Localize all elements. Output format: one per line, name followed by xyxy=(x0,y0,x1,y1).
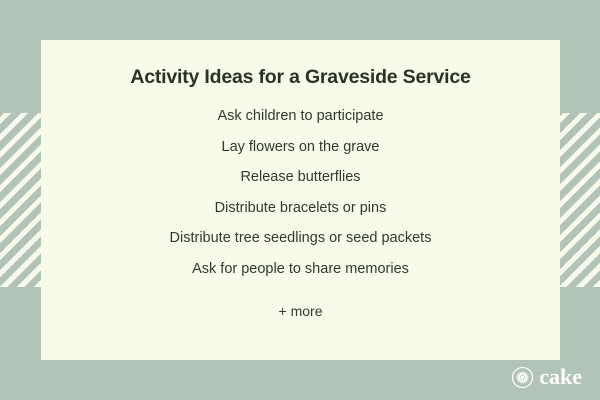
more-label: + more xyxy=(279,303,323,319)
list-item: Ask for people to share memories xyxy=(192,262,409,277)
brand-name: cake xyxy=(539,366,582,388)
infographic-canvas: Activity Ideas for a Graveside Service A… xyxy=(0,0,600,400)
list-item: Release butterflies xyxy=(240,170,360,185)
list-item: Distribute bracelets or pins xyxy=(215,201,387,216)
cake-flower-emblem-icon xyxy=(512,367,533,388)
brand-logo: cake xyxy=(512,366,582,388)
list-item: Distribute tree seedlings or seed packet… xyxy=(170,231,432,246)
list-item: Ask children to participate xyxy=(217,109,383,124)
list-item: Lay flowers on the grave xyxy=(222,140,380,155)
diagonal-stripe-band-right xyxy=(560,113,600,287)
activity-ideas-card: Activity Ideas for a Graveside Service A… xyxy=(41,40,560,360)
diagonal-stripe-band-left xyxy=(0,113,41,287)
activity-list: Ask children to participate Lay flowers … xyxy=(71,109,530,292)
page-title: Activity Ideas for a Graveside Service xyxy=(130,66,470,89)
